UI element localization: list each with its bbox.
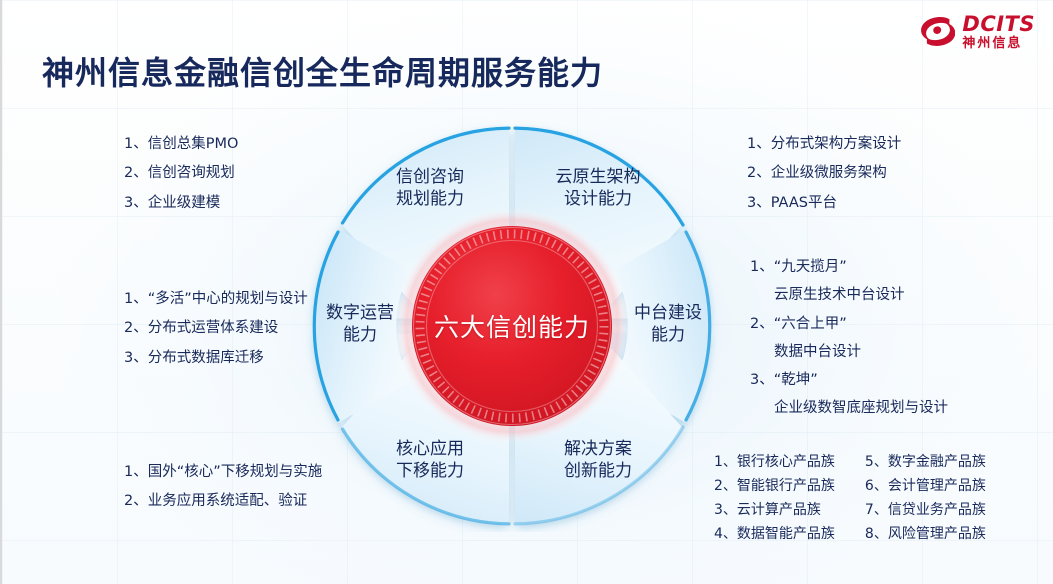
list-item: 3、云计算产品族: [714, 498, 835, 522]
list-item: 1、分布式架构方案设计: [747, 130, 901, 159]
list-item: 2、分布式运营体系建设: [124, 314, 308, 343]
detail-list-top-left: 1、信创总集PMO 2、信创咨询规划 3、企业级建模: [124, 130, 238, 218]
list-item: 2、业务应用系统适配、验证: [124, 487, 322, 516]
list-item-sub: 数据中台设计: [750, 338, 948, 366]
list-item: 5、数字金融产品族: [865, 450, 986, 474]
list-item-sub: 企业级数智底座规划与设计: [750, 394, 948, 422]
list-item: 3、分布式数据库迁移: [124, 344, 308, 373]
logo-wordmark: DCITS 神州信息: [962, 14, 1035, 50]
list-item: 7、信贷业务产品族: [865, 498, 986, 522]
list-item: 3、企业级建模: [124, 189, 238, 218]
detail-list-top-right: 1、分布式架构方案设计 2、企业级微服务架构 3、PAAS平台: [747, 130, 901, 218]
list-item: 4、数据智能产品族: [714, 522, 835, 546]
logo-cn-text: 神州信息: [962, 37, 1035, 50]
list-item: 1、“多活”中心的规划与设计: [124, 285, 308, 314]
list-item: 8、风险管理产品族: [865, 522, 986, 546]
list-item: 6、会计管理产品族: [865, 474, 986, 498]
list-item: 3、“乾坤”: [750, 366, 948, 394]
list-item: 1、“九天揽月”: [750, 253, 948, 281]
detail-list-bottom-right-col1: 1、银行核心产品族 2、智能银行产品族 3、云计算产品族 4、数据智能产品族: [714, 450, 835, 546]
list-item: 3、PAAS平台: [747, 189, 901, 218]
capability-donut-diagram: 信创咨询 规划能力 云原生架构 设计能力 中台建设 能力 解决方案 创新能力 核…: [295, 120, 729, 532]
detail-list-middle-right: 1、“九天揽月” 云原生技术中台设计 2、“六合上甲” 数据中台设计 3、“乾坤…: [750, 253, 948, 423]
list-item: 2、“六合上甲”: [750, 310, 948, 338]
detail-list-middle-left: 1、“多活”中心的规划与设计 2、分布式运营体系建设 3、分布式数据库迁移: [124, 285, 308, 373]
list-item-sub: 云原生技术中台设计: [750, 281, 948, 309]
page-title: 神州信息金融信创全生命周期服务能力: [42, 48, 603, 94]
list-item: 1、信创总集PMO: [124, 130, 238, 159]
detail-list-bottom-right-col2: 5、数字金融产品族 6、会计管理产品族 7、信贷业务产品族 8、风险管理产品族: [865, 450, 986, 546]
logo-en-text: DCITS: [962, 12, 1035, 36]
detail-list-bottom-right: 1、银行核心产品族 2、智能银行产品族 3、云计算产品族 4、数据智能产品族 5…: [714, 450, 986, 546]
list-item: 2、智能银行产品族: [714, 474, 835, 498]
dcits-logo: DCITS 神州信息: [919, 14, 1035, 50]
list-item: 1、银行核心产品族: [714, 450, 835, 474]
dcits-swoosh-logo-icon: [919, 15, 955, 49]
list-item: 2、信创咨询规划: [124, 159, 238, 188]
detail-list-bottom-left: 1、国外“核心”下移规划与实施 2、业务应用系统适配、验证: [124, 458, 322, 517]
list-item: 1、国外“核心”下移规划与实施: [124, 458, 322, 487]
list-item: 2、企业级微服务架构: [747, 159, 901, 188]
